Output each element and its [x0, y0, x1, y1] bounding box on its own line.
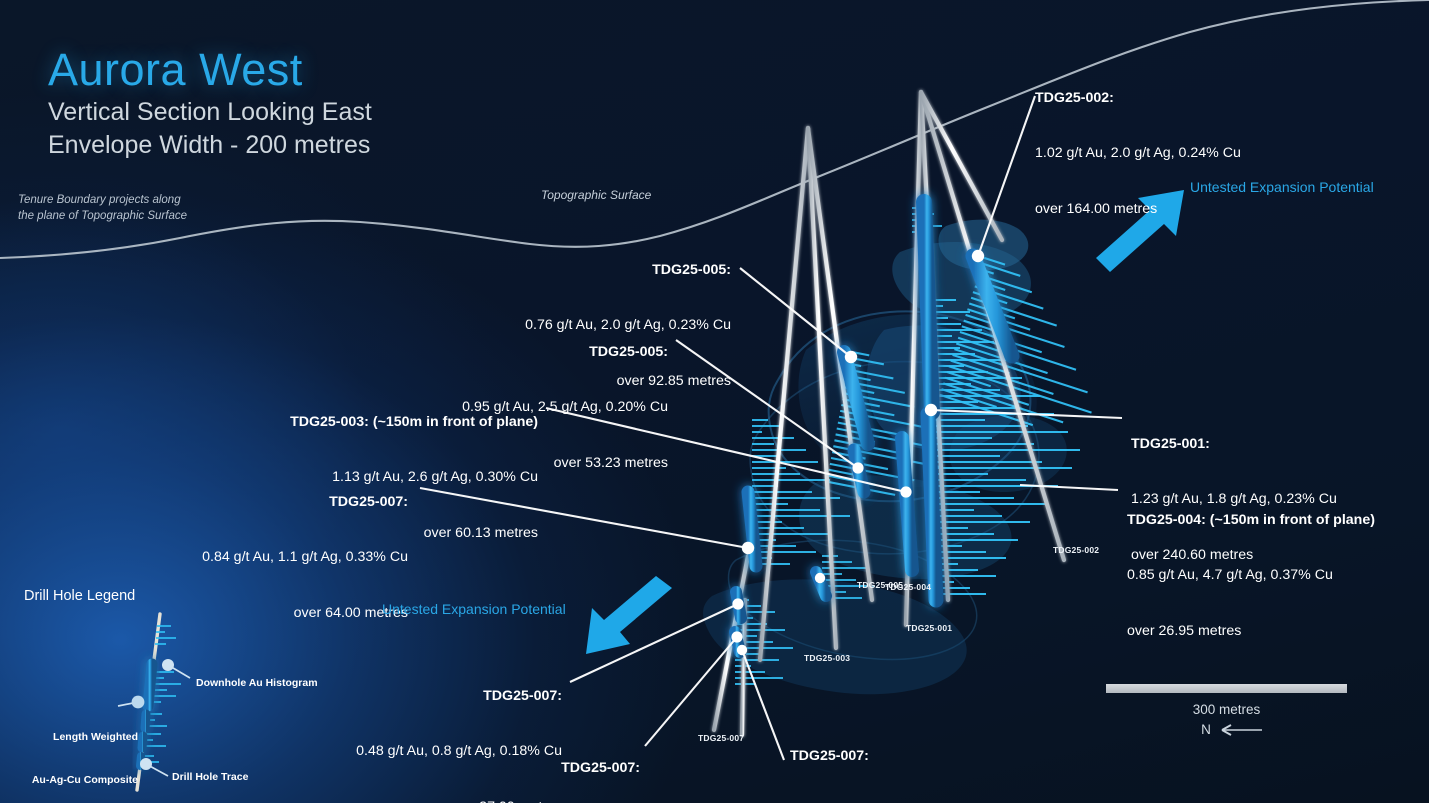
- callout-hole: TDG25-001:: [1131, 435, 1337, 453]
- composite-point: [731, 631, 742, 642]
- hole-label-tdg25-003: TDG25-003: [804, 653, 850, 663]
- legend-dot-trace: [140, 758, 152, 770]
- composite-point: [925, 404, 937, 416]
- interval-tdg25-007-a: [748, 492, 756, 566]
- legend-label-composite-line-1: Length Weighted: [18, 730, 138, 744]
- leader-tdg25-004: [1020, 485, 1118, 490]
- callout-tdg25-007-c: TDG25-007: 0.87 g/t Au, 1.5 g/t Ag, 0.22…: [296, 722, 640, 803]
- composite-point: [900, 486, 911, 497]
- expansion-arrow-left-icon: [586, 576, 672, 654]
- hole-label-tdg25-002: TDG25-002: [1053, 545, 1099, 555]
- callout-hole: TDG25-005:: [318, 343, 668, 361]
- callout-interval: over 164.00 metres: [1035, 200, 1241, 218]
- tenure-boundary-note: Tenure Boundary projects along the plane…: [18, 192, 187, 225]
- legend-label-composite-line-2: Au-Ag-Cu Composite: [18, 773, 138, 787]
- callout-hole: TDG25-002:: [1035, 89, 1241, 107]
- interval-tdg25-003: [902, 438, 912, 570]
- legend-dot-histogram: [162, 659, 174, 671]
- topographic-surface-label: Topographic Surface: [541, 188, 651, 202]
- scale-bar: [1106, 684, 1347, 693]
- expansion-label-right: Untested Expansion Potential: [1190, 178, 1374, 196]
- callout-hole: TDG25-005:: [381, 261, 731, 279]
- callout-grade: 1.02 g/t Au, 2.0 g/t Ag, 0.24% Cu: [1035, 144, 1241, 162]
- composite-point: [852, 462, 863, 473]
- composite-point: [815, 573, 825, 583]
- callout-hole: TDG25-007:: [790, 747, 996, 765]
- callout-tdg25-004: TDG25-004: (~150m in front of plane) 0.8…: [1127, 474, 1375, 677]
- subtitle-line-2: Envelope Width - 200 metres: [48, 129, 372, 162]
- legend-interval: [145, 714, 146, 728]
- hole-label-tdg25-001: TDG25-001: [906, 623, 952, 633]
- page-subtitle: Vertical Section Looking East Envelope W…: [48, 96, 372, 162]
- tenure-note-line-1: Tenure Boundary projects along: [18, 192, 187, 208]
- callout-grade: 0.84 g/t Au, 1.1 g/t Ag, 0.33% Cu: [60, 548, 408, 566]
- composite-point: [732, 598, 743, 609]
- legend-label-trace: Drill Hole Trace: [172, 770, 248, 784]
- callout-tdg25-002: TDG25-002: 1.02 g/t Au, 2.0 g/t Ag, 0.24…: [1035, 52, 1241, 255]
- expansion-label-left: Untested Expansion Potential: [382, 600, 566, 618]
- hole-label-tdg25-007: TDG25-007: [698, 733, 744, 743]
- north-label: N: [1106, 722, 1306, 737]
- section-figure: Aurora West Vertical Section Looking Eas…: [0, 0, 1429, 803]
- legend-label-downhole-histogram: Downhole Au Histogram: [196, 676, 318, 690]
- callout-hole: TDG25-007:: [60, 493, 408, 511]
- callout-hole: TDG25-004: (~150m in front of plane): [1127, 511, 1375, 529]
- legend-interval: [148, 664, 152, 706]
- callout-tdg25-007-d: TDG25-007: 0.59 g/t Au, 1.8 g/t Ag, 0.25…: [790, 710, 996, 803]
- callout-hole: TDG25-003: (~150m in front of plane): [168, 413, 538, 431]
- callout-interval: over 64.00 metres: [60, 604, 408, 622]
- composite-point: [742, 542, 754, 554]
- legend-label-composite: Length Weighted Au-Ag-Cu Composite: [18, 702, 138, 803]
- interval-tdg25-001-lower: [928, 414, 936, 600]
- legend-interval: [142, 736, 143, 748]
- callout-interval: over 26.95 metres: [1127, 622, 1375, 640]
- callout-hole: TDG25-007:: [296, 759, 640, 777]
- scale-bar-distance: 300 metres: [1106, 702, 1347, 717]
- page-title: Aurora West: [48, 44, 303, 96]
- composite-point: [972, 250, 984, 262]
- legend-title: Drill Hole Legend: [24, 588, 135, 604]
- tenure-note-line-2: the plane of Topographic Surface: [18, 208, 187, 224]
- composite-point: [845, 351, 857, 363]
- callout-grade: 0.85 g/t Au, 4.7 g/t Ag, 0.37% Cu: [1127, 566, 1375, 584]
- callout-tdg25-007-a: TDG25-007: 0.84 g/t Au, 1.1 g/t Ag, 0.33…: [60, 456, 408, 659]
- composite-point: [737, 645, 747, 655]
- interval-tdg25-001: [924, 202, 932, 412]
- hole-label-tdg25-004: TDG25-004: [885, 582, 931, 592]
- subtitle-line-1: Vertical Section Looking East: [48, 96, 372, 129]
